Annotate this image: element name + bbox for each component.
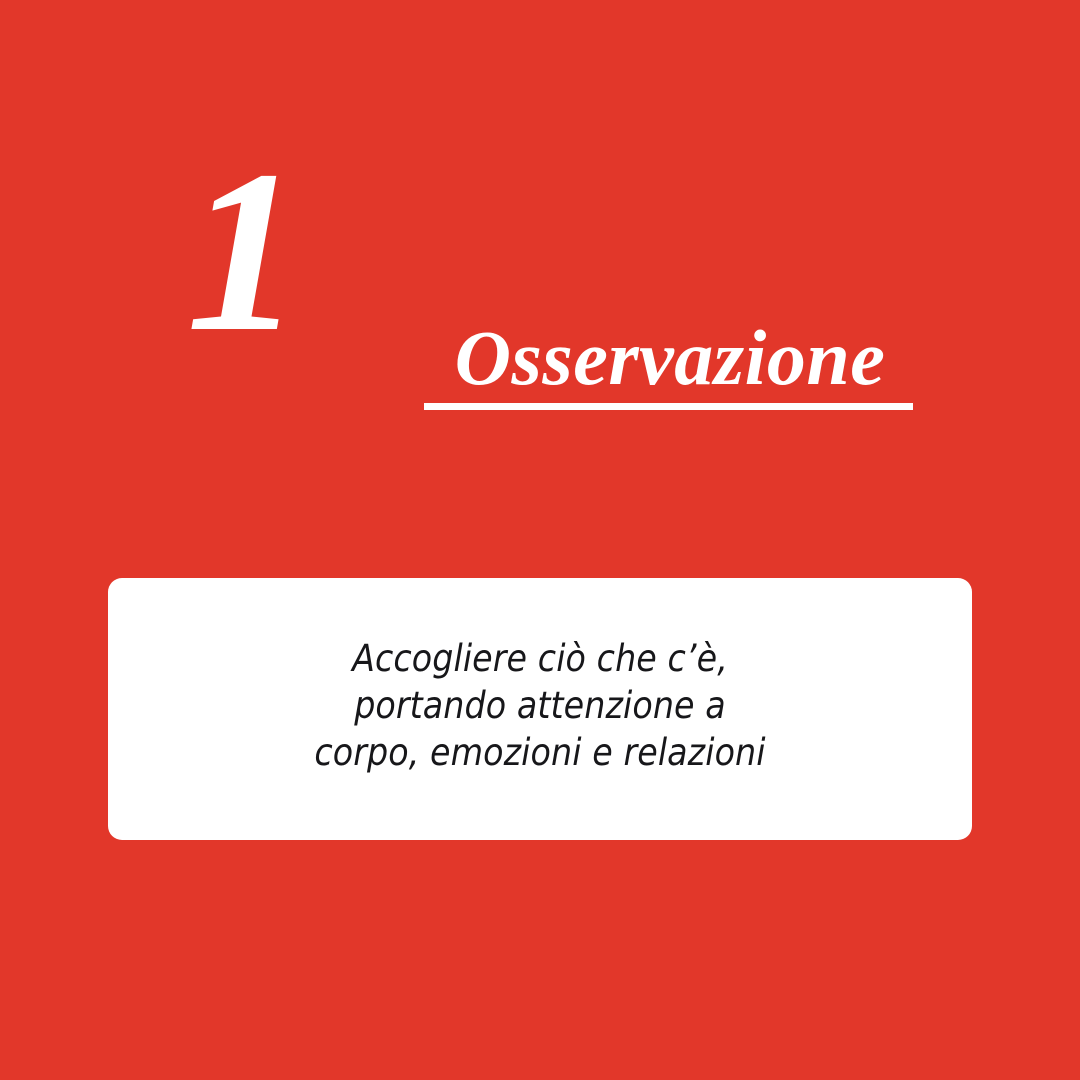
description-text: Accogliere ciò che c’è, portando attenzi… xyxy=(314,635,765,776)
page-title: Osservazione xyxy=(424,318,916,398)
title-block: Osservazione xyxy=(424,318,916,410)
description-line-3: corpo, emozioni e relazioni xyxy=(314,729,765,776)
step-number: 1 xyxy=(186,152,326,352)
description-card: Accogliere ciò che c’è, portando attenzi… xyxy=(108,578,972,840)
slide-root: 1 Osservazione Accogliere ciò che c’è, p… xyxy=(0,0,1080,1080)
description-line-1: Accogliere ciò che c’è, xyxy=(314,635,765,682)
title-underline-rule xyxy=(424,403,913,410)
description-line-2: portando attenzione a xyxy=(314,682,765,729)
